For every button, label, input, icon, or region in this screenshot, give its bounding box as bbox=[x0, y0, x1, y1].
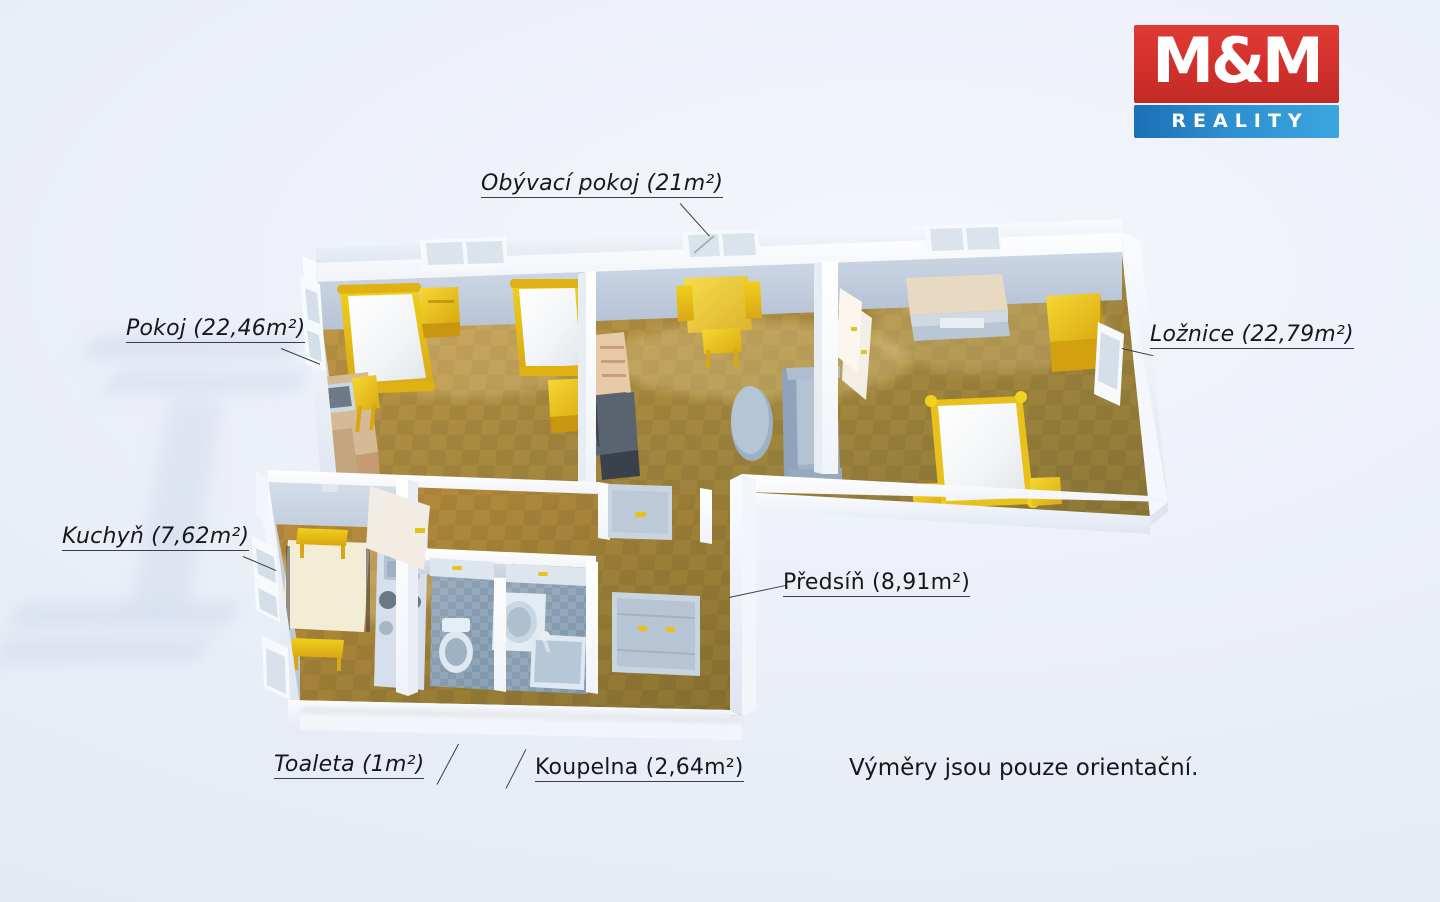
label-underline bbox=[274, 778, 424, 779]
window bbox=[1094, 322, 1124, 406]
nightstand bbox=[420, 287, 460, 338]
toilet-icon bbox=[439, 618, 473, 673]
label-pokoj-text: Pokoj (22,46m²) bbox=[126, 316, 305, 341]
door-entrance[interactable] bbox=[612, 592, 700, 676]
logo-brand-name: M&M bbox=[1134, 22, 1339, 100]
label-obyvaci-pokoj-text: Obývací pokoj (21m²) bbox=[481, 171, 723, 196]
label-toaleta: Toaleta (1m²) bbox=[274, 752, 424, 779]
label-koupelna-text: Koupelna (2,64m²) bbox=[535, 755, 744, 780]
kitchen-table bbox=[282, 540, 370, 632]
wardrobe bbox=[1046, 293, 1104, 372]
door[interactable] bbox=[608, 484, 672, 540]
label-obyvaci-pokoj: Obývací pokoj (21m²) bbox=[481, 171, 723, 198]
chair bbox=[744, 281, 762, 319]
label-underline bbox=[783, 596, 970, 597]
label-loznice: Ložnice (22,79m²) bbox=[1150, 322, 1354, 349]
label-loznice-text: Ložnice (22,79m²) bbox=[1150, 322, 1354, 347]
label-underline bbox=[62, 550, 249, 551]
floorplan-canvas: Obývací pokoj (21m²) Pokoj (22,46m²) Lož… bbox=[0, 0, 1440, 902]
label-koupelna: Koupelna (2,64m²) bbox=[535, 755, 744, 782]
disclaimer-text: Výměry jsou pouze orientační. bbox=[849, 755, 1198, 781]
window bbox=[924, 223, 1002, 257]
label-pokoj: Pokoj (22,46m²) bbox=[126, 316, 305, 343]
label-underline bbox=[535, 781, 744, 782]
label-predsin-text: Předsíň (8,91m²) bbox=[783, 570, 970, 595]
brand-logo[interactable]: M&M REALITY bbox=[1134, 25, 1339, 138]
label-toaleta-text: Toaleta (1m²) bbox=[274, 752, 424, 777]
label-underline bbox=[481, 197, 723, 198]
bathtub bbox=[530, 631, 586, 690]
window bbox=[420, 237, 508, 271]
label-underline bbox=[1150, 348, 1354, 349]
label-underline bbox=[126, 342, 305, 343]
tv-unit bbox=[596, 392, 640, 480]
label-predsin: Předsíň (8,91m²) bbox=[783, 570, 970, 597]
window bbox=[252, 536, 280, 622]
label-kuchyn-text: Kuchyň (7,62m²) bbox=[62, 524, 249, 549]
logo-brand-sub: REALITY bbox=[1134, 105, 1339, 138]
window bbox=[682, 230, 760, 262]
chair bbox=[676, 285, 694, 322]
label-kuchyn: Kuchyň (7,62m²) bbox=[62, 524, 249, 551]
dresser bbox=[906, 274, 1010, 341]
